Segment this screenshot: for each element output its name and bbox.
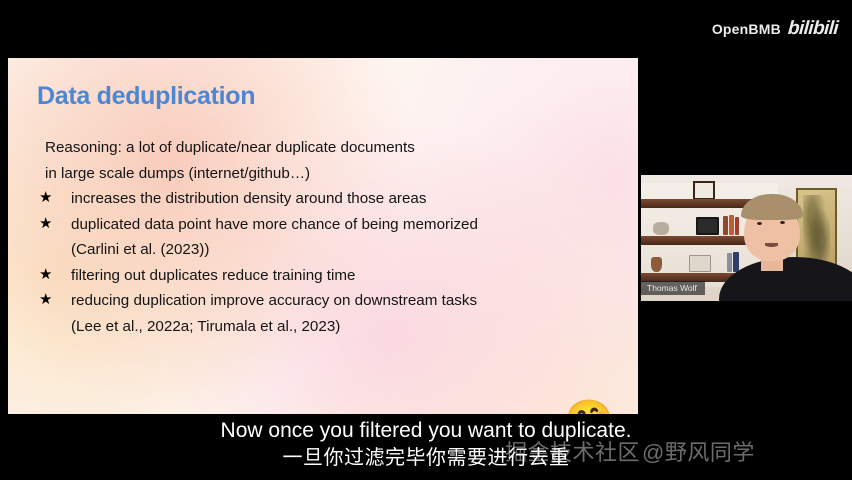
- star-bullet-icon: ★: [39, 287, 52, 313]
- webcam-shelf-book: [733, 252, 739, 272]
- list-item: ★ filtering out duplicates reduce traini…: [35, 263, 625, 289]
- bullet-text: filtering out duplicates reduce training…: [71, 263, 625, 289]
- webcam-person-eye: [757, 222, 762, 225]
- star-bullet-icon: ★: [39, 185, 52, 211]
- bullet-text: increases the distribution density aroun…: [71, 186, 625, 212]
- hugging-face-emoji: 🤗: [564, 401, 614, 414]
- star-bullet-icon: ★: [39, 262, 52, 288]
- channel-name-label: OpenBMB: [712, 21, 781, 37]
- webcam-shelf-decor: [653, 222, 669, 235]
- channel-watermark: OpenBMB bilibili: [712, 18, 838, 40]
- webcam-top-picture-frame: [693, 181, 715, 200]
- video-player-stage: OpenBMB bilibili Data deduplication Reas…: [0, 0, 852, 480]
- webcam-shelf-book: [727, 253, 732, 272]
- slide-bullet-list: ★ increases the distribution density aro…: [35, 186, 625, 339]
- webcam-participant-name: Thomas Wolf: [641, 281, 705, 295]
- subtitle-chinese: 一旦你过滤完毕你需要进行去重: [0, 446, 852, 470]
- webcam-person-eye: [780, 221, 785, 224]
- webcam-shelf-book: [735, 217, 739, 235]
- shared-slide: Data deduplication Reasoning: a lot of d…: [8, 58, 638, 414]
- star-bullet-icon: ★: [39, 211, 52, 237]
- slide-lead-line-1: Reasoning: a lot of duplicate/near dupli…: [45, 135, 625, 161]
- slide-body: Reasoning: a lot of duplicate/near dupli…: [35, 135, 625, 339]
- webcam-shelf-book: [729, 215, 734, 235]
- webcam-shelf-vase: [651, 257, 662, 272]
- list-item: ★ reducing duplication improve accuracy …: [35, 288, 625, 339]
- bullet-text: reducing duplication improve accuracy on…: [71, 288, 625, 314]
- bilibili-logo: bilibili: [787, 18, 839, 40]
- webcam-shelf-book: [723, 216, 728, 235]
- webcam-person-mouth: [765, 243, 778, 247]
- slide-lead-line-2: in large scale dumps (internet/github…): [45, 161, 625, 187]
- list-item: ★ duplicated data point have more chance…: [35, 212, 625, 263]
- bullet-citation: (Carlini et al. (2023)): [71, 237, 625, 263]
- bullet-citation: (Lee et al., 2022a; Tirumala et al., 202…: [71, 314, 625, 340]
- subtitle-container: Now once you filtered you want to duplic…: [0, 418, 852, 470]
- bullet-text: duplicated data point have more chance o…: [71, 212, 625, 238]
- webcam-shelf-photo: [689, 255, 711, 272]
- webcam-video-tile[interactable]: Thomas Wolf: [641, 175, 852, 301]
- webcam-shelf-photo: [696, 217, 719, 235]
- subtitle-english: Now once you filtered you want to duplic…: [0, 418, 852, 443]
- slide-title: Data deduplication: [37, 82, 255, 111]
- list-item: ★ increases the distribution density aro…: [35, 186, 625, 212]
- slide-lead-paragraph: Reasoning: a lot of duplicate/near dupli…: [35, 135, 625, 186]
